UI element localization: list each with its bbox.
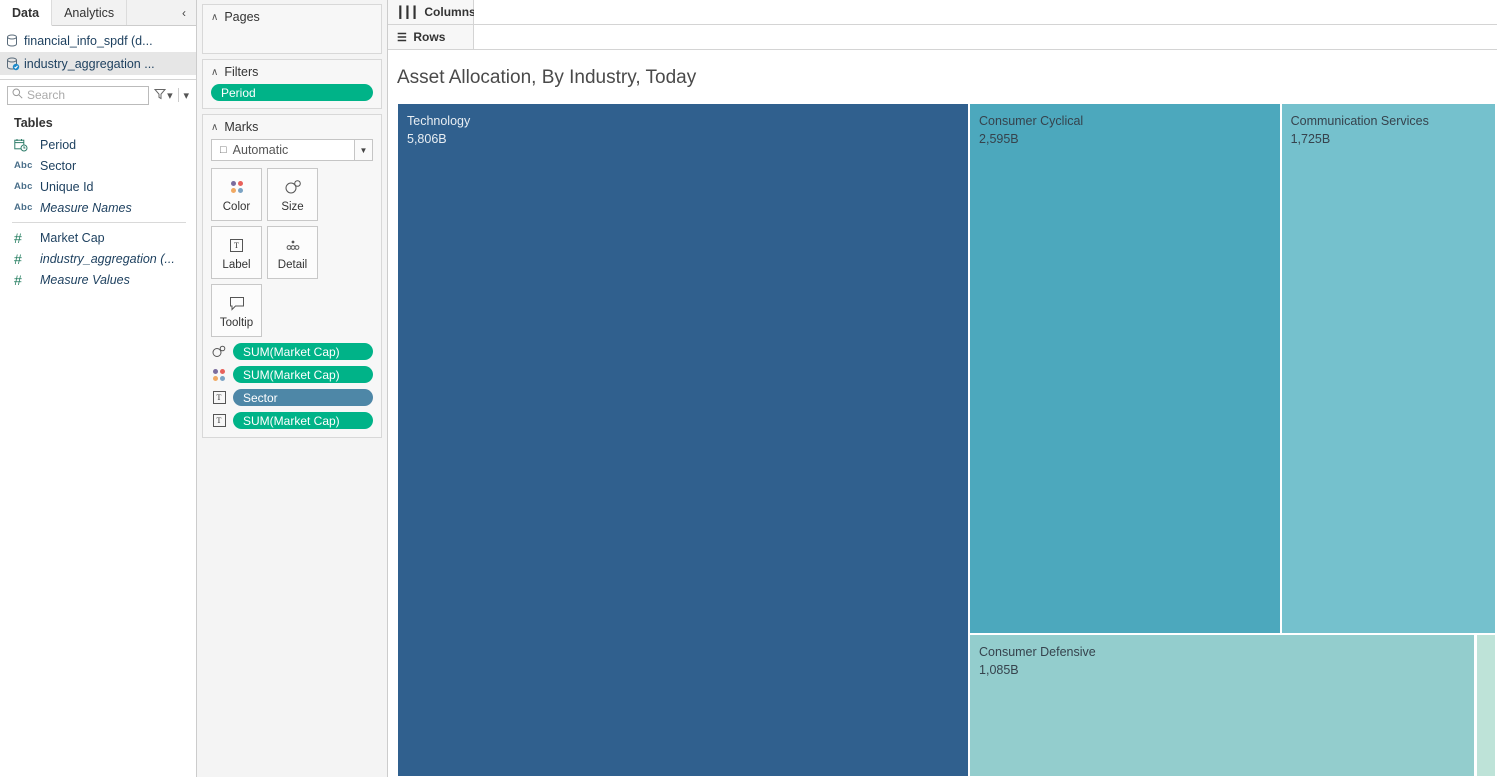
tooltip-icon [227, 292, 247, 314]
detail-icon [283, 234, 303, 256]
mark-pill-label-sector: T Sector [211, 389, 373, 406]
rows-shelf-label: ☰ Rows [388, 25, 474, 49]
treemap-tile[interactable]: Consumer Defensive1,085B [969, 634, 1475, 777]
pill-label[interactable]: SUM(Market Cap) [233, 412, 373, 429]
label-icon: T [211, 390, 227, 406]
filters-card: ∧ Filters Period [202, 59, 382, 109]
pill-label: Period [221, 86, 256, 100]
chevron-down-icon: ▾ [167, 89, 173, 102]
treemap-tile-label: Consumer Cyclical2,595B [970, 104, 1280, 148]
columns-shelf-label: ┃┃┃ Columns [388, 0, 474, 24]
treemap-tile-label: Consumer Defensive1,085B [970, 635, 1474, 679]
field-menu-button[interactable]: ▾ [183, 89, 189, 102]
size-button[interactable]: Size [267, 168, 318, 221]
size-icon [283, 176, 303, 198]
page-title: Asset Allocation, By Industry, Today [388, 50, 1497, 103]
search-icon [12, 86, 23, 104]
pages-card: ∧ Pages [202, 4, 382, 54]
field-label: Market Cap [40, 231, 105, 245]
data-source-item-financial[interactable]: financial_info_spdf (d... [0, 29, 196, 52]
mark-pill-size: SUM(Market Cap) [211, 343, 373, 360]
cards-column: ∧ Pages ∧ Filters Period ∧ Marks □ Au [197, 0, 388, 777]
filters-card-header[interactable]: ∧ Filters [203, 60, 381, 84]
columns-shelf-dropzone[interactable] [474, 0, 1497, 24]
abc-icon: Abc [14, 181, 40, 192]
treemap-tile-name: Consumer Cyclical [979, 112, 1280, 130]
treemap-tile[interactable]: Communication Services1,725B [1281, 103, 1496, 634]
chevron-up-icon: ∧ [211, 122, 218, 133]
filter-pill-period[interactable]: Period [211, 84, 373, 101]
filters-card-title: Filters [224, 65, 258, 79]
color-button-label: Color [223, 201, 250, 213]
abc-icon: Abc [14, 160, 40, 171]
label-button[interactable]: T Label [211, 226, 262, 279]
detail-button[interactable]: Detail [267, 226, 318, 279]
tooltip-button[interactable]: Tooltip [211, 284, 262, 337]
label-icon: T [230, 234, 243, 256]
treemap-tile-label: Technology5,806B [398, 104, 968, 148]
data-source-list: financial_info_spdf (d... industry_aggre… [0, 26, 196, 75]
color-button[interactable]: Color [211, 168, 262, 221]
database-linked-icon [6, 57, 24, 71]
filter-fields-button[interactable]: ▾ [154, 88, 173, 103]
color-dots-icon [211, 367, 227, 383]
field-label: Measure Names [40, 201, 132, 215]
filter-icon [154, 88, 166, 103]
treemap-tile-value: 1,085B [979, 661, 1474, 679]
pages-card-title: Pages [224, 10, 259, 24]
mark-type-label: Automatic [233, 143, 289, 157]
tables-header: Tables [0, 110, 196, 134]
field-market-cap[interactable]: # Market Cap [0, 227, 196, 248]
database-icon [6, 34, 24, 47]
treemap-tile-label: Communication Services1,725B [1282, 104, 1495, 148]
rows-shelf: ☰ Rows [388, 25, 1497, 50]
field-group-divider [12, 222, 186, 223]
field-measure-values[interactable]: # Measure Values [0, 269, 196, 290]
treemap-tile-value: 2,595B [979, 130, 1280, 148]
hash-icon: # [14, 230, 40, 246]
toolbar-divider [178, 88, 179, 102]
square-icon: □ [212, 144, 233, 156]
treemap-tile-value: 5,806B [407, 130, 968, 148]
pill-label[interactable]: SUM(Market Cap) [233, 366, 373, 383]
filters-card-body: Period [203, 84, 381, 101]
treemap-tile-name: Technology [407, 112, 968, 130]
tab-analytics-label: Analytics [64, 6, 114, 20]
data-source-item-industry-aggregation[interactable]: industry_aggregation ... [0, 52, 196, 75]
field-industry-aggregation[interactable]: # industry_aggregation (... [0, 248, 196, 269]
calendar-clock-icon [14, 138, 40, 152]
tableau-window: Data Analytics ‹ financial_info_spdf (d.… [0, 0, 1497, 777]
columns-label: Columns [424, 5, 475, 19]
columns-shelf: ┃┃┃ Columns [388, 0, 1497, 25]
mark-pill-color: SUM(Market Cap) [211, 366, 373, 383]
label-button-label: Label [222, 259, 250, 271]
rows-icon: ☰ [397, 31, 407, 44]
marks-card: ∧ Marks □ Automatic ▼ Color [202, 114, 382, 438]
size-button-label: Size [281, 201, 303, 213]
detail-button-label: Detail [278, 259, 307, 271]
label-icon: T [211, 413, 227, 429]
hash-icon: # [14, 251, 40, 267]
treemap-tile[interactable]: Technology5,806B [397, 103, 969, 777]
search-toolbar: ▾ ▾ [0, 80, 196, 110]
field-label: Measure Values [40, 273, 130, 287]
mark-type-dropdown[interactable]: □ Automatic ▼ [211, 139, 373, 161]
search-field[interactable] [7, 86, 149, 105]
marks-card-header[interactable]: ∧ Marks [203, 115, 381, 139]
chevron-up-icon: ∧ [211, 12, 218, 23]
color-dots-icon [231, 176, 243, 198]
mark-pill-list: SUM(Market Cap) SUM(Market Cap) T Sector [203, 337, 381, 429]
hash-icon: # [14, 272, 40, 288]
field-label: Sector [40, 159, 76, 173]
field-label: industry_aggregation (... [40, 252, 175, 266]
abc-icon: Abc [14, 202, 40, 213]
collapse-pane-icon[interactable]: ‹ [172, 0, 196, 25]
field-label: Unique Id [40, 180, 94, 194]
pages-card-header[interactable]: ∧ Pages [203, 5, 381, 29]
rows-shelf-dropzone[interactable] [474, 25, 1497, 49]
treemap-chart: Technology5,806BConsumer Cyclical2,595BC… [397, 103, 1496, 777]
size-icon [211, 344, 227, 360]
field-label: Period [40, 138, 76, 152]
pill-label[interactable]: SUM(Market Cap) [233, 343, 373, 360]
pane-tabs: Data Analytics ‹ [0, 0, 196, 26]
field-list: Period Abc Sector Abc Unique Id Abc Meas… [0, 134, 196, 290]
field-measure-names[interactable]: Abc Measure Names [0, 197, 196, 218]
chevron-up-icon: ∧ [211, 67, 218, 78]
tab-analytics[interactable]: Analytics [52, 0, 127, 25]
data-source-label: financial_info_spdf (d... [24, 34, 153, 48]
treemap-tile-name: Consumer Defensive [979, 643, 1474, 661]
tooltip-button-label: Tooltip [220, 317, 253, 329]
chevron-down-icon: ▼ [354, 140, 372, 160]
tab-data-label: Data [12, 6, 39, 20]
field-sector[interactable]: Abc Sector [0, 155, 196, 176]
columns-icon: ┃┃┃ [397, 6, 418, 19]
field-period[interactable]: Period [0, 134, 196, 155]
rows-label: Rows [413, 30, 445, 44]
treemap-tile-value: 1,725B [1291, 130, 1495, 148]
field-unique-id[interactable]: Abc Unique Id [0, 176, 196, 197]
data-pane: Data Analytics ‹ financial_info_spdf (d.… [0, 0, 197, 777]
search-input[interactable] [27, 88, 144, 102]
treemap-tile-name: Communication Services [1291, 112, 1495, 130]
data-source-label: industry_aggregation ... [24, 57, 155, 71]
pill-label[interactable]: Sector [233, 389, 373, 406]
treemap-tile[interactable] [1476, 634, 1496, 777]
mark-property-buttons: Color Size T Label [203, 168, 381, 337]
chevron-down-icon: ▾ [183, 89, 189, 102]
mark-pill-label-sum: T SUM(Market Cap) [211, 412, 373, 429]
marks-card-title: Marks [224, 120, 258, 134]
treemap-tile[interactable]: Consumer Cyclical2,595B [969, 103, 1281, 634]
tab-data[interactable]: Data [0, 0, 52, 26]
viz-area: ┃┃┃ Columns ☰ Rows Asset Allocation, By … [388, 0, 1497, 777]
